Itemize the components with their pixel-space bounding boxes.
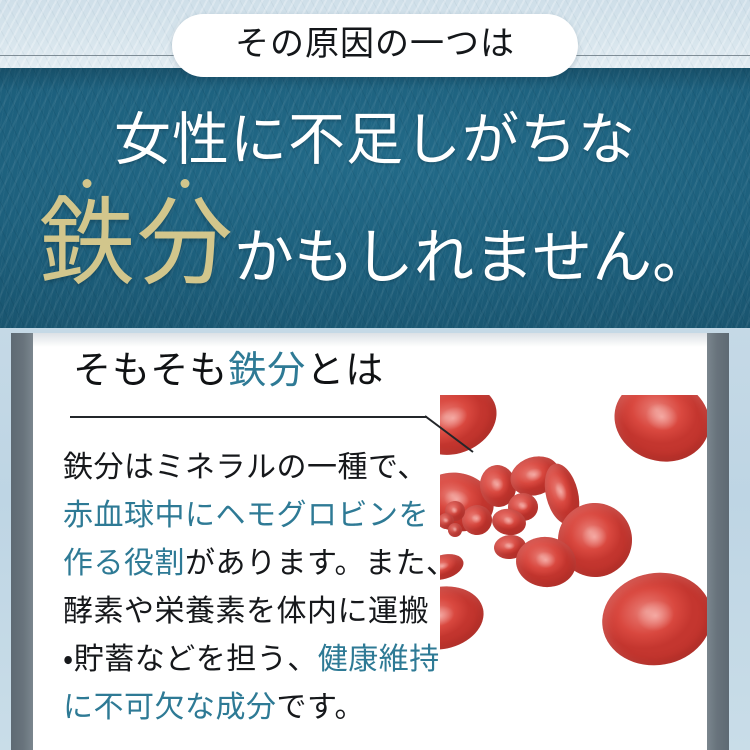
hero-headline-line-2: 鉄分 かもしれません。: [0, 196, 750, 292]
body-line-5-rest: ・貯蓄などを担う、: [63, 643, 318, 676]
blood-cell: [539, 460, 585, 528]
blood-cell: [505, 450, 564, 502]
blood-cell: [553, 498, 637, 582]
blood-cell: [490, 506, 528, 538]
body-line-1: 鉄分はミネラルの一種で、: [63, 444, 463, 492]
body-line-3: 作る役割があります。また、: [63, 540, 463, 588]
hero-keyword-char-2: 分: [136, 196, 234, 292]
blood-cell: [493, 533, 527, 560]
body-line-2: 赤血球中にヘモグロビンを: [63, 492, 463, 540]
body-line-2-highlight: 赤血球中にヘモグロビンを: [63, 499, 429, 532]
hero-keyword-iron: 鉄分: [38, 196, 234, 292]
blood-cell: [514, 534, 579, 590]
body-line-3-rest: があります。また、: [185, 547, 457, 580]
body-line-4: 酵素や栄養素を体内に運搬: [63, 588, 463, 636]
section-title-prefix: そもそも: [73, 350, 228, 392]
body-line-6-highlight: に不可欠な成分: [63, 691, 277, 724]
blood-cell: [595, 564, 707, 674]
hero-keyword-char-1: 鉄: [38, 196, 136, 292]
blood-cell: [477, 463, 518, 510]
section-title-underline: [70, 416, 427, 418]
section-title-keyword: 鉄分: [228, 350, 306, 392]
body-copy: 鉄分はミネラルの一種で、 赤血球中にヘモグロビンを 作る役割があります。また、 …: [63, 444, 463, 732]
blood-cell: [459, 502, 495, 538]
landing-page-screenshot: その原因の一つは 女性に不足しがちな 鉄分 かもしれません。: [0, 0, 750, 750]
eyebrow-badge-label: その原因の一つは: [235, 28, 515, 64]
card-border-left: [11, 333, 33, 750]
eyebrow-badge: その原因の一つは: [172, 14, 578, 77]
section-title-suffix: とは: [306, 350, 384, 392]
card-top-shadow: [33, 333, 707, 347]
body-line-6: に不可欠な成分です。: [63, 684, 463, 732]
blood-cell: [508, 493, 538, 521]
body-line-3-highlight: 作る役割: [63, 547, 185, 580]
body-line-6-rest: です。: [277, 691, 366, 724]
body-line-5: ・貯蓄などを担う、健康維持: [63, 636, 463, 684]
body-line-5-highlight: 健康維持: [318, 643, 440, 676]
hero-headline-tail: かもしれません。: [234, 228, 712, 292]
hero-headline-line-1: 女性に不足しがちな: [0, 112, 750, 169]
blood-cell: [605, 395, 707, 473]
section-title: そもそも鉄分とは: [73, 352, 384, 390]
card-border-right: [707, 333, 729, 750]
